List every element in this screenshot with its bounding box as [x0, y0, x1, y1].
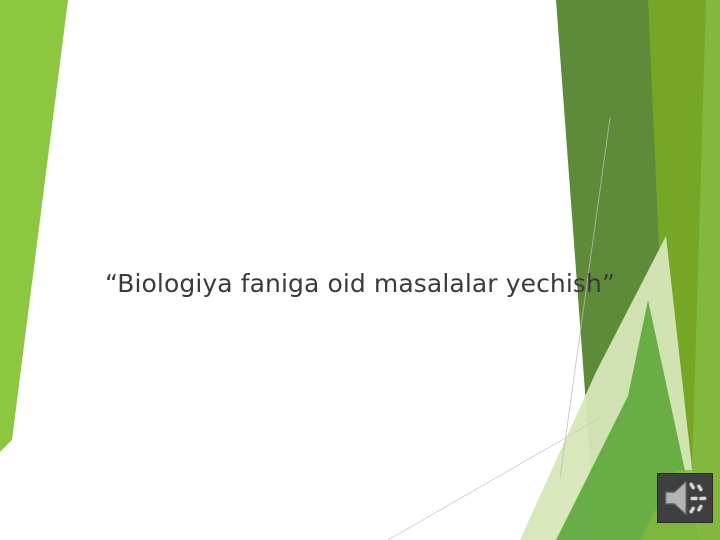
speaker-icon[interactable]: [657, 473, 713, 523]
speaker-icon-glyph: [658, 474, 712, 522]
slide-background-graphics: [0, 0, 720, 540]
presentation-slide: “Biologiya faniga oid masalalar yechish”: [0, 0, 720, 540]
